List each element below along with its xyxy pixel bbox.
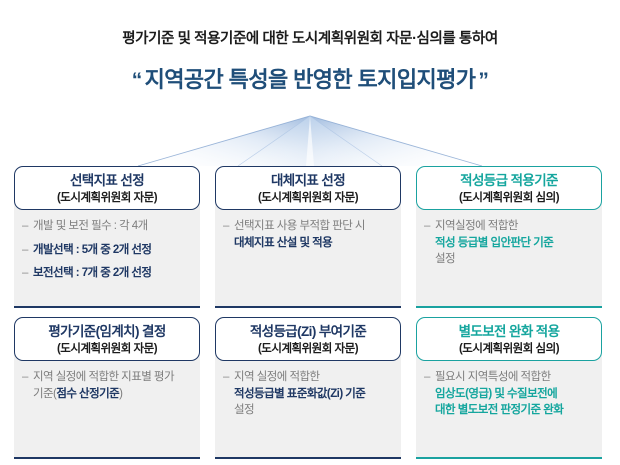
bullet-line: 적성 등급별 입안판단 기준 bbox=[435, 235, 596, 252]
bullet-line: 임상도(영급) 및 수질보전에 bbox=[435, 386, 596, 403]
bullet-item: –필요시 지역특성에 적합한임상도(영급) 및 수질보전에대한 별도보전 판정기… bbox=[424, 369, 596, 419]
bullet-dash-icon: – bbox=[424, 369, 435, 385]
card-header: 적성등급(Zi) 부여기준 (도시계획위원회 자문) bbox=[215, 317, 401, 361]
bullet-line: 필요시 지역특성에 적합한 bbox=[435, 369, 596, 386]
card-subtitle: (도시계획위원회 심의) bbox=[417, 190, 601, 206]
card-title: 적성등급 적용기준 bbox=[417, 171, 601, 190]
process-card[interactable]: 대체지표 선정 (도시계획위원회 자문) –선택지표 사용 부적합 판단 시대체… bbox=[215, 166, 401, 308]
card-body: –지역 실정에 적합한 지표별 평가기준(점수 산정기준) bbox=[14, 355, 200, 459]
page-title-text: 지역공간 특성을 반영한 토지입지평가 bbox=[145, 67, 476, 92]
bullet-item: –개발선택 : 5개 중 2개 선정 bbox=[22, 242, 194, 259]
process-card[interactable]: 별도보전 완화 적용 (도시계획위원회 심의) –필요시 지역특성에 적합한임상… bbox=[416, 317, 602, 459]
page-title: “지역공간 특성을 반영한 토지입지평가” bbox=[0, 62, 620, 94]
card-subtitle: (도시계획위원회 자문) bbox=[216, 341, 400, 357]
bullet-dash-icon: – bbox=[424, 218, 435, 234]
bullet-line: 대체지표 산설 및 적용 bbox=[234, 235, 395, 252]
bullet-text: 지역 실정에 적합한적성등급별 표준화값(Zi) 기준설정 bbox=[234, 369, 395, 419]
bullet-text: 보전선택 : 7개 중 2개 선정 bbox=[33, 265, 194, 282]
process-card[interactable]: 선택지표 선정 (도시계획위원회 자문) –개발 및 보전 필수 : 각 4개–… bbox=[14, 166, 200, 308]
bullet-item: –지역실정에 적합한적성 등급별 입안판단 기준설정 bbox=[424, 218, 596, 268]
bullet-line: 개발 및 보전 필수 : 각 4개 bbox=[33, 218, 194, 235]
bullet-line: 개발선택 : 5개 중 2개 선정 bbox=[33, 242, 194, 259]
bullet-emphasis: 적성등급별 표준화값(Zi) 기준 bbox=[234, 388, 365, 400]
process-card[interactable]: 적성등급 적용기준 (도시계획위원회 심의) –지역실정에 적합한적성 등급별 … bbox=[416, 166, 602, 308]
card-title: 적성등급(Zi) 부여기준 bbox=[216, 322, 400, 341]
card-body: –필요시 지역특성에 적합한임상도(영급) 및 수질보전에대한 별도보전 판정기… bbox=[416, 355, 602, 459]
bullet-item: –개발 및 보전 필수 : 각 4개 bbox=[22, 218, 194, 235]
bullet-item: –선택지표 사용 부적합 판단 시대체지표 산설 및 적용 bbox=[223, 218, 395, 251]
bullet-dash-icon: – bbox=[22, 218, 33, 234]
card-header: 별도보전 완화 적용 (도시계획위원회 심의) bbox=[416, 317, 602, 361]
bullet-emphasis: 보전선택 : 7개 중 2개 선정 bbox=[33, 267, 151, 279]
bullet-emphasis: 대한 별도보전 판정기준 완화 bbox=[435, 404, 563, 416]
card-subtitle: (도시계획위원회 자문) bbox=[15, 190, 199, 206]
bullet-dash-icon: – bbox=[223, 218, 234, 234]
bullet-line: 기준(점수 산정기준) bbox=[33, 386, 194, 403]
card-body: –지역실정에 적합한적성 등급별 입안판단 기준설정 bbox=[416, 204, 602, 308]
quote-open-mark: “ bbox=[129, 69, 145, 92]
card-header: 선택지표 선정 (도시계획위원회 자문) bbox=[14, 166, 200, 210]
bullet-dash-icon: – bbox=[223, 369, 234, 385]
card-title: 선택지표 선정 bbox=[15, 171, 199, 190]
bullet-plain: 개발 및 보전 필수 : 각 4개 bbox=[33, 220, 148, 232]
bullet-line: 대한 별도보전 판정기준 완화 bbox=[435, 402, 596, 419]
bullet-line: 설정 bbox=[435, 251, 596, 268]
bullet-emphasis: 적성 등급별 입안판단 기준 bbox=[435, 237, 553, 249]
card-header: 적성등급 적용기준 (도시계획위원회 심의) bbox=[416, 166, 602, 210]
bullet-text: 선택지표 사용 부적합 판단 시대체지표 산설 및 적용 bbox=[234, 218, 395, 251]
bullet-text: 지역실정에 적합한적성 등급별 입안판단 기준설정 bbox=[435, 218, 596, 268]
bullet-item: –지역 실정에 적합한 지표별 평가기준(점수 산정기준) bbox=[22, 369, 194, 402]
bullet-emphasis: 대체지표 산설 및 적용 bbox=[234, 237, 332, 249]
bullet-plain: 기준( bbox=[33, 388, 56, 400]
process-card[interactable]: 평가기준(임계치) 결정 (도시계획위원회 자문) –지역 실정에 적합한 지표… bbox=[14, 317, 200, 459]
card-subtitle: (도시계획위원회 자문) bbox=[216, 190, 400, 206]
card-body: –개발 및 보전 필수 : 각 4개–개발선택 : 5개 중 2개 선정–보전선… bbox=[14, 204, 200, 308]
quote-close-mark: ” bbox=[475, 69, 491, 92]
card-title: 별도보전 완화 적용 bbox=[417, 322, 601, 341]
bullet-plain: 지역실정에 적합한 bbox=[435, 220, 518, 232]
bullet-text: 지역 실정에 적합한 지표별 평가기준(점수 산정기준) bbox=[33, 369, 194, 402]
header-subtitle: 평가기준 및 적용기준에 대한 도시계획위원회 자문·심의를 통하여 bbox=[0, 27, 620, 48]
bullet-item: –지역 실정에 적합한적성등급별 표준화값(Zi) 기준설정 bbox=[223, 369, 395, 419]
bullet-plain: 설정 bbox=[435, 253, 455, 265]
bullet-item: –보전선택 : 7개 중 2개 선정 bbox=[22, 265, 194, 282]
process-card[interactable]: 적성등급(Zi) 부여기준 (도시계획위원회 자문) –지역 실정에 적합한적성… bbox=[215, 317, 401, 459]
bullet-emphasis: 점수 산정기준 bbox=[56, 388, 119, 400]
bullet-dash-icon: – bbox=[22, 265, 33, 281]
bullet-text: 개발선택 : 5개 중 2개 선정 bbox=[33, 242, 194, 259]
fan-triangle-decoration bbox=[110, 114, 510, 168]
card-header: 평가기준(임계치) 결정 (도시계획위원회 자문) bbox=[14, 317, 200, 361]
bullet-plain: 설정 bbox=[234, 404, 254, 416]
bullet-dash-icon: – bbox=[22, 242, 33, 258]
card-subtitle: (도시계획위원회 자문) bbox=[15, 341, 199, 357]
bullet-line: 선택지표 사용 부적합 판단 시 bbox=[234, 218, 395, 235]
card-title: 대체지표 선정 bbox=[216, 171, 400, 190]
bullet-plain: 선택지표 사용 부적합 판단 시 bbox=[234, 220, 365, 232]
card-subtitle: (도시계획위원회 심의) bbox=[417, 341, 601, 357]
bullet-plain: 필요시 지역특성에 적합한 bbox=[435, 371, 551, 383]
card-body: –선택지표 사용 부적합 판단 시대체지표 산설 및 적용 bbox=[215, 204, 401, 308]
card-body: –지역 실정에 적합한적성등급별 표준화값(Zi) 기준설정 bbox=[215, 355, 401, 459]
card-header: 대체지표 선정 (도시계획위원회 자문) bbox=[215, 166, 401, 210]
bullet-line: 지역실정에 적합한 bbox=[435, 218, 596, 235]
bullet-line: 지역 실정에 적합한 지표별 평가 bbox=[33, 369, 194, 386]
bullet-text: 개발 및 보전 필수 : 각 4개 bbox=[33, 218, 194, 235]
bullet-plain: ) bbox=[119, 388, 122, 400]
bullet-dash-icon: – bbox=[22, 369, 33, 385]
bullet-line: 설정 bbox=[234, 402, 395, 419]
bullet-plain: 지역 실정에 적합한 지표별 평가 bbox=[33, 371, 174, 383]
bullet-plain: 지역 실정에 적합한 bbox=[234, 371, 320, 383]
bullet-emphasis: 개발선택 : 5개 중 2개 선정 bbox=[33, 244, 151, 256]
bullet-line: 보전선택 : 7개 중 2개 선정 bbox=[33, 265, 194, 282]
card-title: 평가기준(임계치) 결정 bbox=[15, 322, 199, 341]
bullet-line: 적성등급별 표준화값(Zi) 기준 bbox=[234, 386, 395, 403]
bullet-line: 지역 실정에 적합한 bbox=[234, 369, 395, 386]
page-header: 평가기준 및 적용기준에 대한 도시계획위원회 자문·심의를 통하여 “지역공간… bbox=[0, 0, 620, 115]
bullet-emphasis: 임상도(영급) 및 수질보전에 bbox=[435, 388, 557, 400]
bullet-text: 필요시 지역특성에 적합한임상도(영급) 및 수질보전에대한 별도보전 판정기준… bbox=[435, 369, 596, 419]
